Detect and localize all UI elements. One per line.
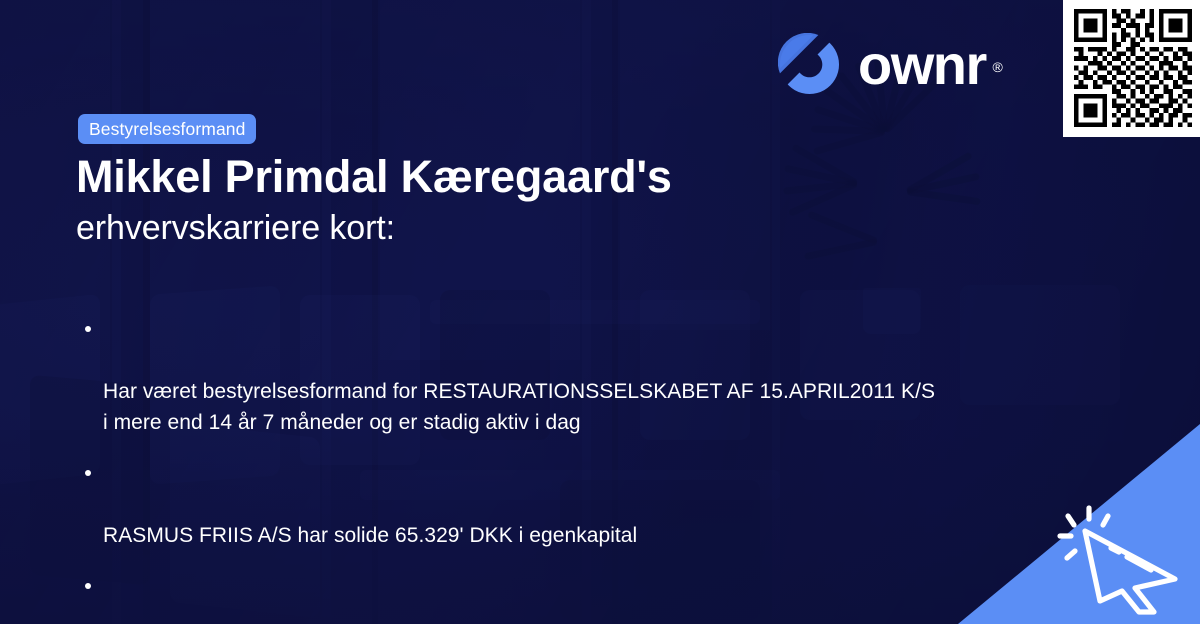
list-item: RASMUS FRIIS A/S har solide 65.329' DKK … (80, 458, 1140, 551)
registered-mark: ® (992, 39, 1002, 95)
list-item: Arbejder bla. indenfor branchen Serverin… (80, 571, 1140, 624)
headline-line-2: erhvervskarriere kort: (76, 205, 876, 251)
qr-code-panel[interactable] (1063, 0, 1200, 137)
ownr-wordmark-text: ownr (858, 33, 986, 96)
list-item-text: RASMUS FRIIS A/S har solide 65.329' DKK … (103, 524, 637, 547)
ownr-logo[interactable]: ownr® (778, 33, 986, 96)
click-cursor-icon (1055, 500, 1185, 615)
bullet-dot-icon (85, 470, 91, 476)
qr-code[interactable] (1074, 9, 1192, 127)
ownr-circle-mark-icon (778, 33, 841, 96)
bullet-dot-icon (85, 583, 91, 589)
headline-line-1: Mikkel Primdal Kæregaard's (76, 148, 876, 205)
page-title: Mikkel Primdal Kæregaard's erhvervskarri… (76, 148, 876, 251)
list-item: Har været bestyrelsesformand for RESTAUR… (80, 314, 1140, 438)
career-card: Bestyrelsesformand Mikkel Primdal Kærega… (0, 0, 1200, 624)
career-fact-list: Har været bestyrelsesformand for RESTAUR… (80, 314, 1140, 624)
bullet-dot-icon (85, 326, 91, 332)
ownr-wordmark: ownr® (858, 37, 986, 93)
list-item-text: Har været bestyrelsesformand for RESTAUR… (103, 380, 935, 434)
role-badge: Bestyrelsesformand (78, 114, 256, 144)
